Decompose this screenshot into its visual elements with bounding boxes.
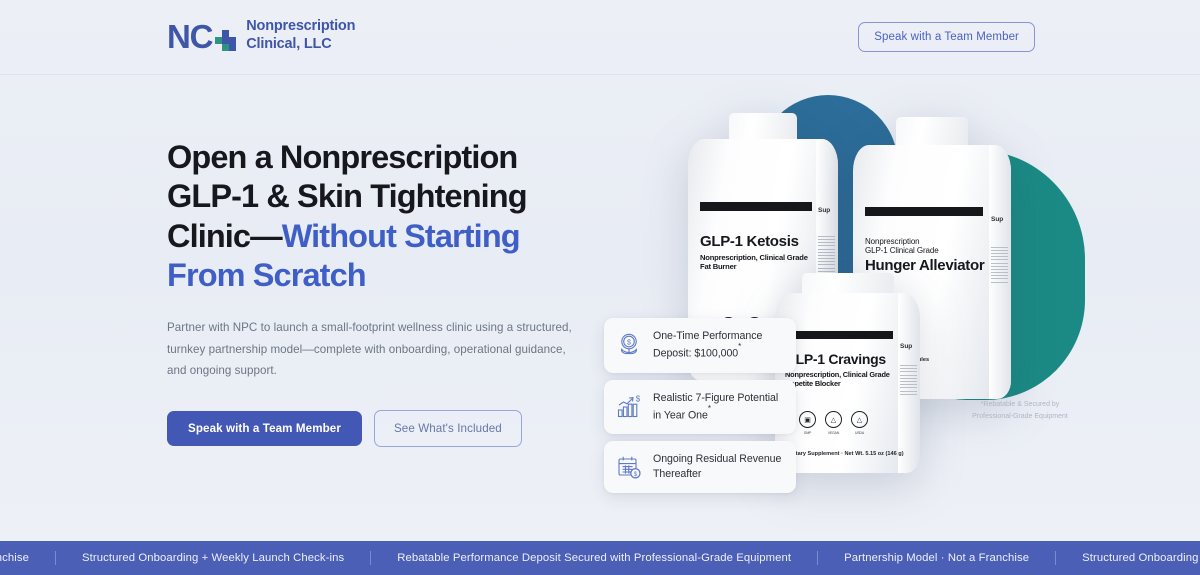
supplement-facts-label: Sup xyxy=(900,343,912,350)
announcement-ticker: Partnership Model · Not a Franchise Stru… xyxy=(0,541,1200,575)
brand-mark: NC xyxy=(167,20,237,53)
hero-copy: Open a Nonprescription GLP-1 & Skin Tigh… xyxy=(167,138,587,447)
calendar-dollar-icon: $ xyxy=(616,454,642,480)
hero-see-whats-included-button[interactable]: See What's Included xyxy=(374,410,522,447)
bottle-title-ketosis: GLP-1 Ketosis xyxy=(700,233,818,250)
ticker-item: Structured Onboarding + Weekly Launch Ch… xyxy=(1056,552,1200,564)
card1-line2: Deposit: $100,000 xyxy=(653,348,738,360)
site-header: NC Nonprescription Clinical, LLC Speak w… xyxy=(0,0,1200,75)
bottle-title-hunger: Hunger Alleviator xyxy=(865,257,989,274)
medical-cross-icon xyxy=(215,30,237,52)
ticker-track: Partnership Model · Not a Franchise Stru… xyxy=(0,551,1200,565)
page-title: Open a Nonprescription GLP-1 & Skin Tigh… xyxy=(167,138,587,295)
supplement-facts-panel: Sup xyxy=(898,293,920,473)
landing-page: NC Nonprescription Clinical, LLC Speak w… xyxy=(0,0,1200,575)
supplement-facts-panel: Sup xyxy=(989,145,1011,399)
hero-subheadline: Partner with NPC to launch a small-footp… xyxy=(167,317,575,381)
bottle-sub2-ketosis: Fat Burner xyxy=(700,262,818,271)
highlight-card-text: One-Time Performance Deposit: $100,000* xyxy=(653,329,762,362)
bottle-sub-cravings: Nonprescription, Clinical Grade xyxy=(785,370,901,379)
hero-footnote: *Rebatable & Secured by Professional-Gra… xyxy=(955,399,1085,422)
card2-line2: in Year One xyxy=(653,409,708,421)
footnote-line2: Professional-Grade Equipment xyxy=(955,411,1085,423)
bar-chart-growth-dollar-icon: $ xyxy=(616,394,642,420)
hero-highlight-cards: $ One-Time Performance Deposit: $100,000… xyxy=(604,318,796,493)
supplement-facts-label: Sup xyxy=(991,216,1003,223)
supplement-facts-lines xyxy=(818,236,835,274)
supplement-facts-label: Sup xyxy=(818,207,830,214)
card3-line2: Thereafter xyxy=(653,468,701,480)
card1-asterisk: * xyxy=(738,342,741,351)
ticker-item: Partnership Model · Not a Franchise xyxy=(0,552,55,564)
product-bottle-glp1-cravings: Sup GLP-1 Cravings Nonprescription, Clin… xyxy=(775,273,920,473)
footnote-line1: *Rebatable & Secured by xyxy=(955,399,1085,411)
supplement-facts-lines xyxy=(991,247,1008,285)
highlight-card-seven-figure-potential[interactable]: $ Realistic 7-Figure Potential in Year O… xyxy=(604,380,796,435)
highlight-card-text: Ongoing Residual Revenue Thereafter xyxy=(653,452,781,482)
bottle-netwt-cravings: Dietary Supplement · Net Wt. 5.15 oz (14… xyxy=(787,451,904,457)
ticker-item: Rebatable Performance Deposit Secured wi… xyxy=(371,552,817,564)
badge-vegan-cravings: △VEGAN xyxy=(825,411,842,428)
brand-name: Nonprescription Clinical, LLC xyxy=(246,18,355,54)
ticker-item: Structured Onboarding + Weekly Launch Ch… xyxy=(56,552,370,564)
bottle-pre2-hunger: GLP-1 Clinical Grade xyxy=(865,246,989,255)
hero-cta-row: Speak with a Team Member See What's Incl… xyxy=(167,410,587,447)
brand-name-line2: Clinical, LLC xyxy=(246,36,355,54)
bottle-title-cravings: GLP-1 Cravings xyxy=(785,351,901,367)
card2-line1: Realistic 7-Figure Potential xyxy=(653,392,778,404)
card2-asterisk: * xyxy=(708,404,711,413)
hero-speak-with-team-button[interactable]: Speak with a Team Member xyxy=(167,411,362,446)
svg-text:$: $ xyxy=(627,340,631,347)
brand-monogram: NC xyxy=(167,20,212,53)
ticker-item: Partnership Model · Not a Franchise xyxy=(818,552,1055,564)
bottle-sub2-cravings: Appetite Blocker xyxy=(785,379,901,388)
header-speak-with-team-button[interactable]: Speak with a Team Member xyxy=(858,22,1035,52)
highlight-card-text: Realistic 7-Figure Potential in Year One… xyxy=(653,391,778,424)
highlight-card-residual-revenue[interactable]: $ Ongoing Residual Revenue Thereafter xyxy=(604,441,796,493)
coin-dollar-laurel-icon: $ xyxy=(616,332,642,358)
bottle-sub-ketosis: Nonprescription, Clinical Grade xyxy=(700,253,818,262)
brand-name-line1: Nonprescription xyxy=(246,18,355,36)
highlight-card-performance-deposit[interactable]: $ One-Time Performance Deposit: $100,000… xyxy=(604,318,796,373)
svg-text:$: $ xyxy=(636,394,641,403)
supplement-facts-lines xyxy=(900,365,917,397)
card1-line1: One-Time Performance xyxy=(653,330,762,342)
bottle-pre1-hunger: Nonprescription xyxy=(865,237,989,246)
badge-gmp-cravings: ▣GMP xyxy=(799,411,816,428)
brand-logo[interactable]: NC Nonprescription Clinical, LLC xyxy=(167,18,355,54)
card3-line1: Ongoing Residual Revenue xyxy=(653,453,781,465)
badge-usda-cravings: △USDA xyxy=(851,411,868,428)
